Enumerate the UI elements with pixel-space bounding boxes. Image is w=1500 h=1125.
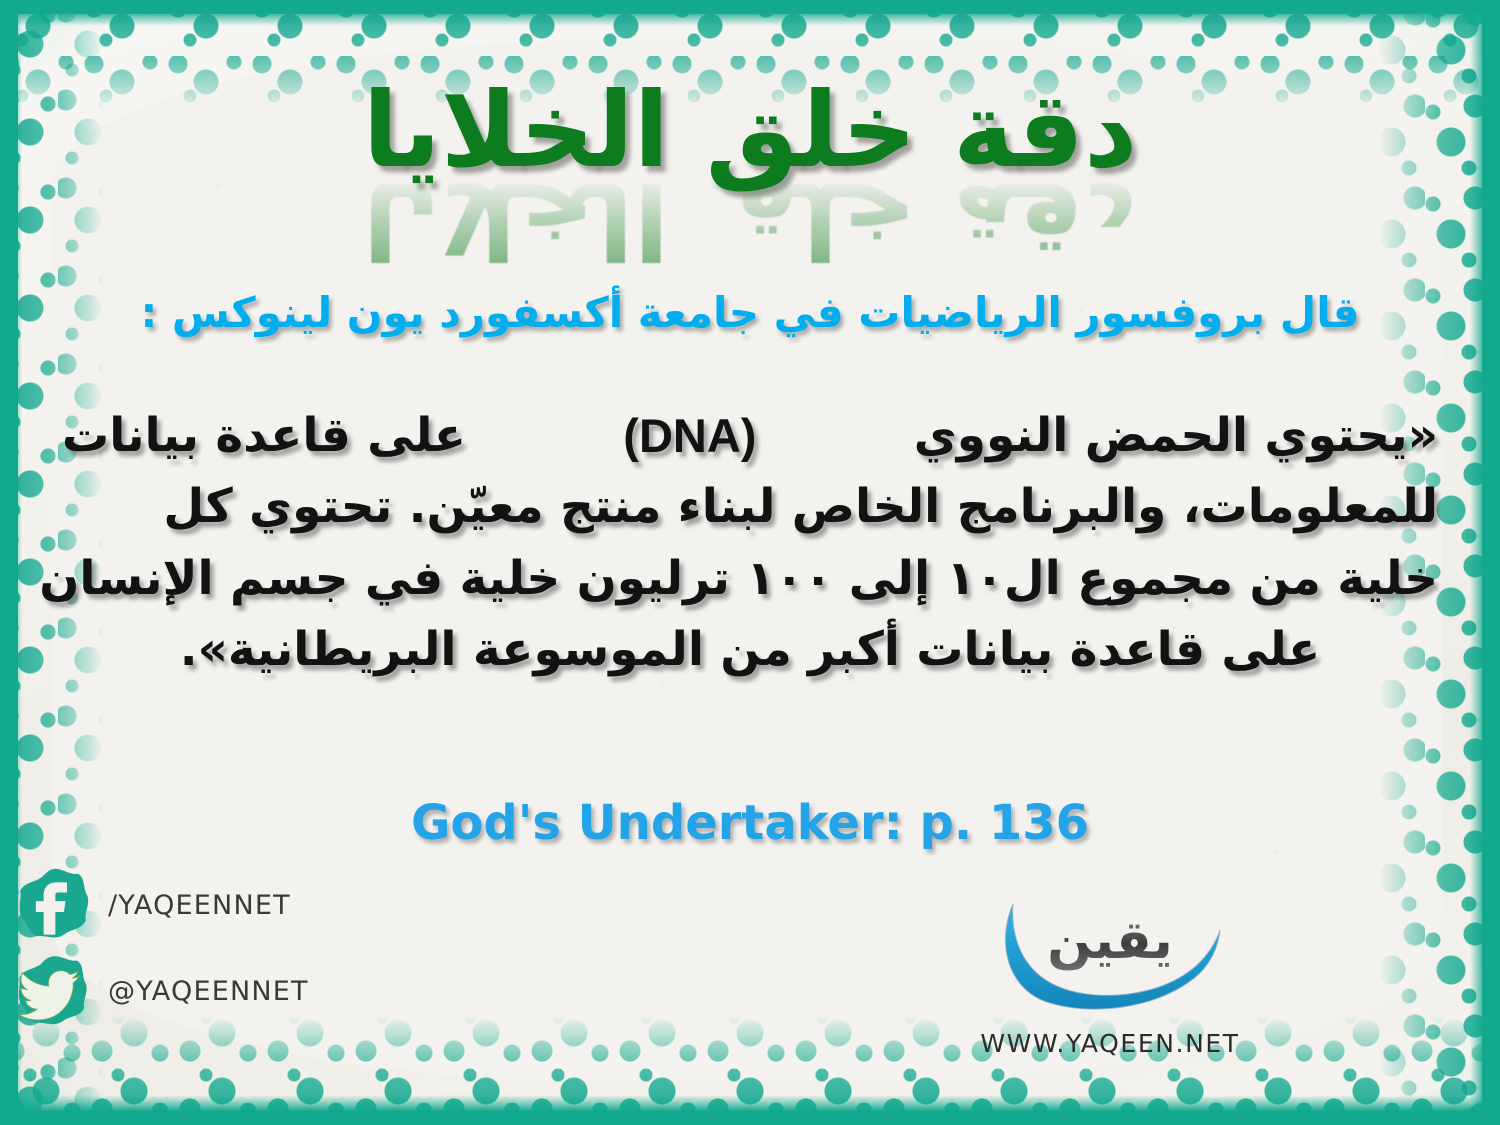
poster-content: دقة خلق الخلايا دقة خلق الخلايا قال بروف… — [0, 0, 1500, 1125]
attribution-subtitle: قال بروفسور الرياضيات في جامعة أكسفورد ي… — [60, 288, 1440, 337]
quote-line-2: للمعلومات، والبرنامج الخاص لبناء منتج مع… — [62, 471, 1438, 542]
brand-logo[interactable]: يقين WWW.YAQEEN.NET — [965, 885, 1255, 1058]
dna-term: (DNA) — [623, 400, 756, 471]
facebook-link[interactable]: /YAQEENNET — [14, 862, 344, 948]
source-citation: God's Undertaker: p. 136 — [0, 795, 1500, 851]
quote-line-1: «يحتوي الحمض النووي (DNA) على قاعدة بيان… — [62, 400, 1438, 471]
quote-line-4: على قاعدة بيانات أكبر من الموسوعة البريط… — [62, 614, 1438, 685]
twitter-icon — [14, 952, 92, 1030]
page-title: دقة خلق الخلايا — [363, 78, 1138, 182]
svg-text:يقين: يقين — [1047, 910, 1173, 971]
logo-wordmark: يقين — [1047, 910, 1173, 971]
quote-body: «يحتوي الحمض النووي (DNA) على قاعدة بيان… — [62, 400, 1438, 686]
twitter-handle: @YAQEENNET — [108, 976, 309, 1007]
quote-line-1-part-a: «يحتوي الحمض النووي — [914, 400, 1438, 471]
facebook-handle: /YAQEENNET — [108, 890, 291, 921]
quote-line-3: خلية من مجموع ال١٠ إلى ١٠٠ ترليون خلية ف… — [62, 543, 1438, 614]
quote-line-1-part-b: على قاعدة بيانات — [62, 400, 466, 471]
title-block: دقة خلق الخلايا دقة خلق الخلايا — [0, 78, 1500, 272]
brand-website-url: WWW.YAQEEN.NET — [965, 1029, 1255, 1058]
social-links: /YAQEENNET @YAQEENNET — [14, 862, 344, 1034]
poster-canvas: دقة خلق الخلايا دقة خلق الخلايا قال بروف… — [0, 0, 1500, 1125]
yaqeen-logo-mark: يقين — [965, 885, 1255, 1025]
twitter-link[interactable]: @YAQEENNET — [14, 948, 344, 1034]
facebook-icon — [14, 866, 92, 944]
